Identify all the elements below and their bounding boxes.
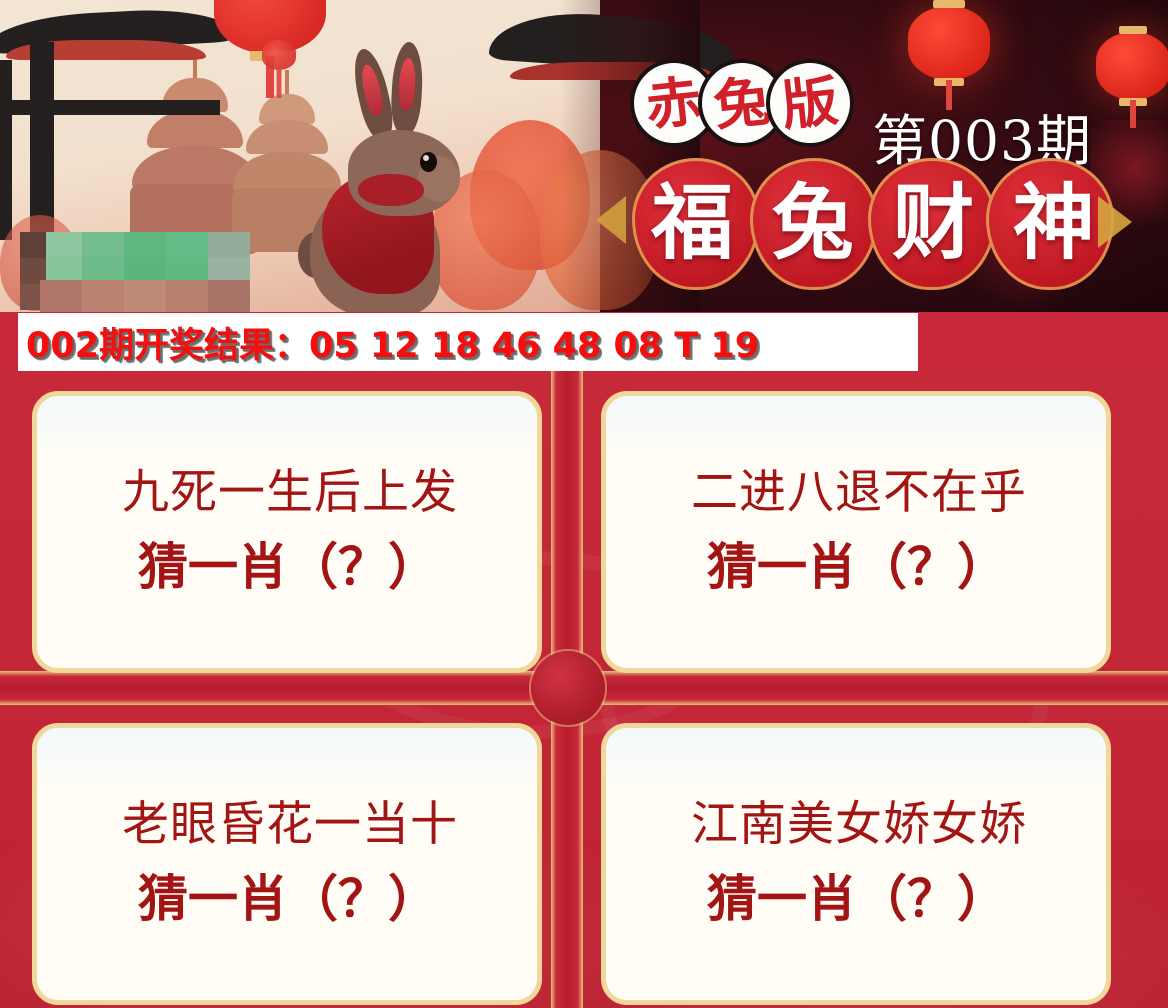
rabbit-eye bbox=[420, 152, 437, 172]
lantern-icon bbox=[908, 6, 990, 80]
main-title-plaque: 福 兔 财 神 bbox=[632, 158, 1114, 290]
draw-result-text: 002期开奖结果：05 12 18 46 48 08 T 19 bbox=[18, 317, 759, 368]
poster-page: 赤 兔 版 第003期 福 兔 财 神 002期开奖结果：05 12 18 46… bbox=[0, 0, 1168, 1008]
riddle-card[interactable]: 二进八退不在乎 猜一肖（？） bbox=[601, 391, 1111, 673]
riddle-card[interactable]: 九死一生后上发 猜一肖（？） bbox=[32, 391, 542, 673]
guess-prompt: 猜一肖（？） bbox=[606, 874, 1106, 924]
gold-ornament-icon bbox=[1098, 196, 1132, 248]
main-title-char: 福 bbox=[651, 183, 733, 265]
riddle-text: 二进八退不在乎 bbox=[606, 469, 1106, 516]
guess-prompt: 猜一肖（？） bbox=[37, 542, 537, 592]
riddle-card[interactable]: 江南美女娇女娇 猜一肖（？） bbox=[601, 723, 1111, 1005]
mosaic-censor-block bbox=[40, 232, 250, 282]
guess-prompt: 猜一肖（？） bbox=[37, 874, 537, 924]
rabbit-collar bbox=[358, 174, 424, 206]
banner-illustration: 赤 兔 版 第003期 福 兔 财 神 bbox=[0, 0, 1168, 312]
torii-crossbar bbox=[0, 100, 220, 115]
main-title: 福 兔 财 神 bbox=[632, 158, 1114, 290]
riddle-text: 九死一生后上发 bbox=[37, 469, 537, 516]
rabbit-ear-right bbox=[390, 41, 425, 134]
riddle-text: 老眼昏花一当十 bbox=[37, 801, 537, 848]
main-title-char: 财 bbox=[892, 183, 974, 265]
edition-badge-char: 版 bbox=[766, 59, 854, 147]
main-title-char: 神 bbox=[1013, 183, 1095, 265]
riddle-card[interactable]: 老眼昏花一当十 猜一肖（？） bbox=[32, 723, 542, 1005]
gold-ornament-icon bbox=[596, 196, 626, 244]
edition-badge: 赤 兔 版 bbox=[630, 62, 834, 144]
rabbit-ear-left bbox=[348, 46, 398, 142]
riddle-text: 江南美女娇女娇 bbox=[606, 801, 1106, 848]
rabbit-illustration bbox=[300, 46, 490, 312]
lantern-icon bbox=[262, 40, 296, 70]
draw-result-strip: 002期开奖结果：05 12 18 46 48 08 T 19 bbox=[18, 313, 918, 371]
guess-prompt: 猜一肖（？） bbox=[606, 542, 1106, 592]
cards-area: 九死一生后上发 猜一肖（？） 二进八退不在乎 猜一肖（？） 老眼昏花一当十 猜一… bbox=[0, 371, 1168, 1008]
ribbon-knot bbox=[531, 651, 605, 725]
torii-post bbox=[0, 60, 12, 240]
mosaic-censor-block bbox=[40, 280, 250, 312]
torii-post bbox=[30, 42, 54, 232]
lantern-icon bbox=[1096, 32, 1168, 100]
main-title-char: 兔 bbox=[772, 183, 854, 265]
